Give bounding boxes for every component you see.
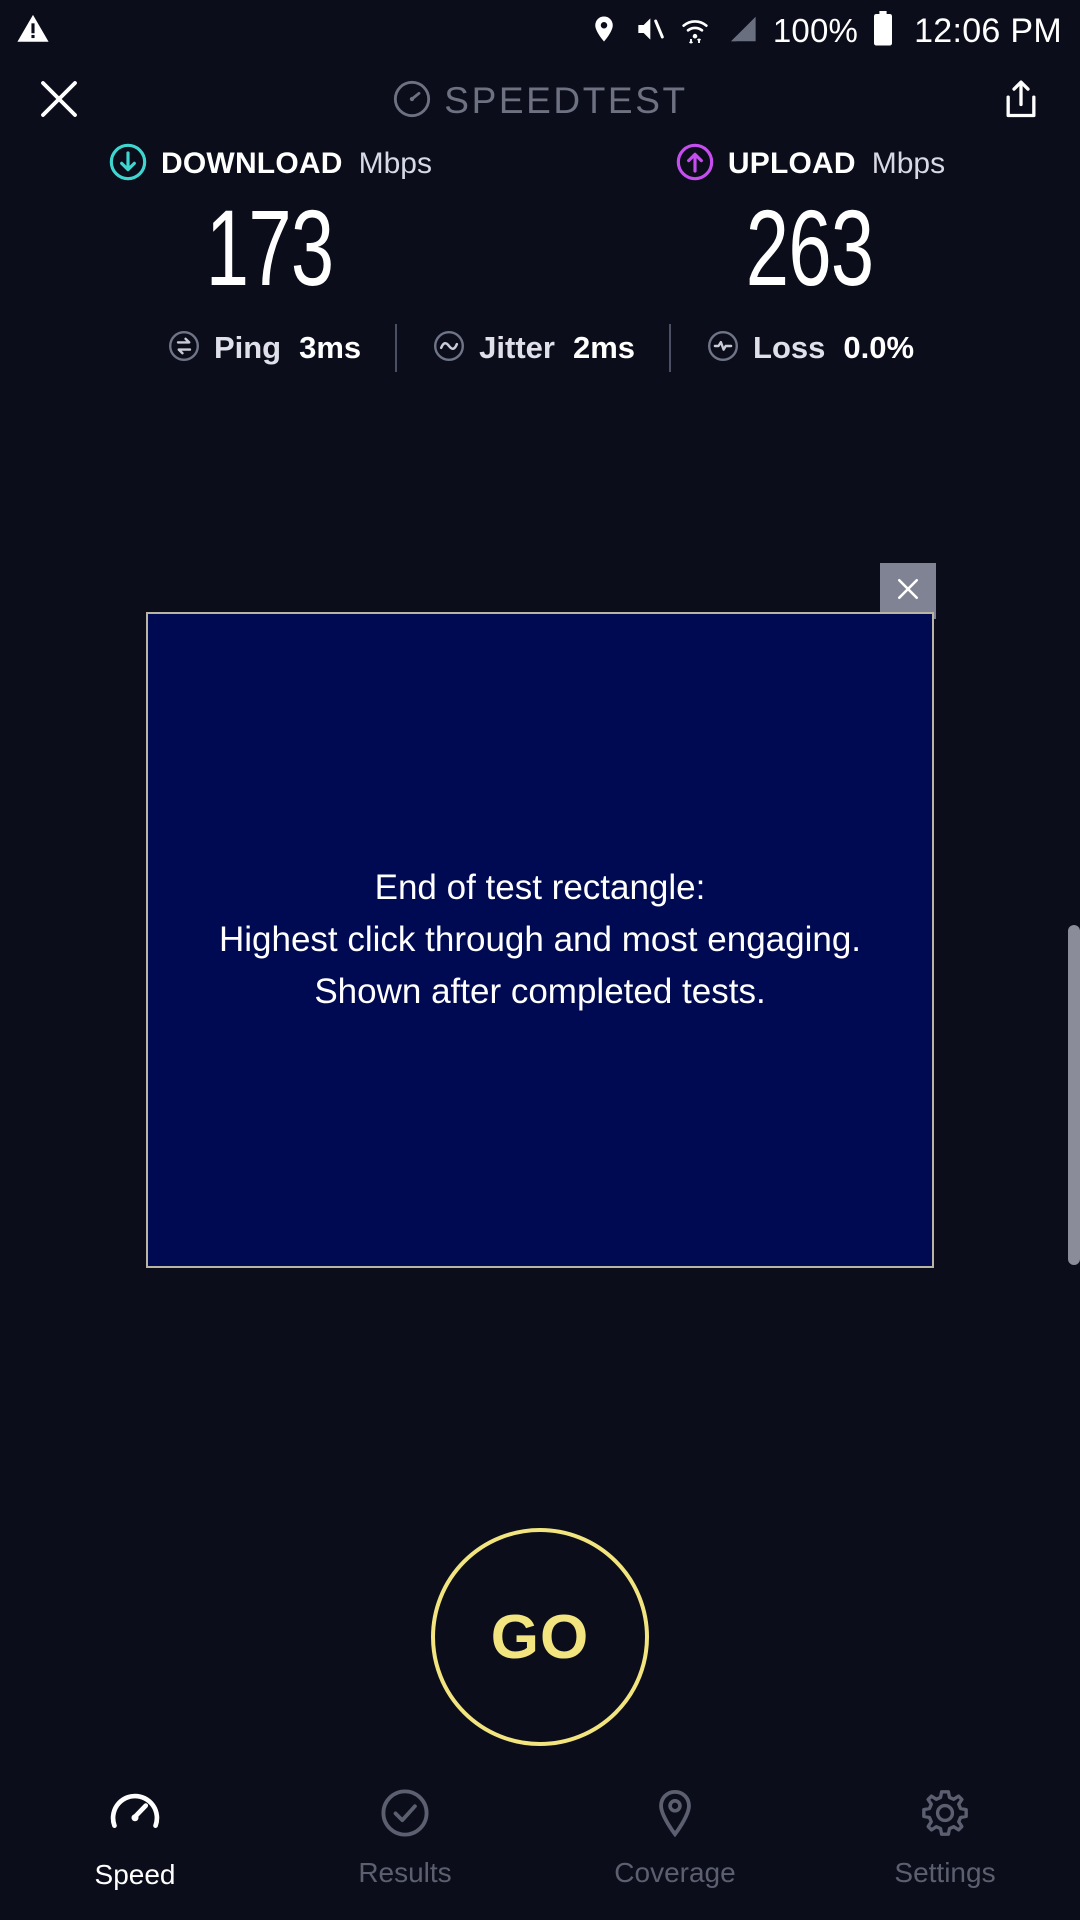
nav-item-coverage[interactable]: Coverage xyxy=(540,1786,810,1889)
loss-label: Loss xyxy=(753,330,825,366)
arrow-down-circle-icon xyxy=(108,142,148,187)
app-bar xyxy=(0,62,1080,140)
ping-jitter-loss-row: Ping 3ms Jitter 2ms Loss 0.0% xyxy=(0,324,1080,372)
download-value: 173 xyxy=(206,194,334,302)
check-circle-icon xyxy=(378,1786,432,1845)
download-metric: DOWNLOAD Mbps 173 xyxy=(0,140,540,302)
volume-mute-icon xyxy=(633,13,665,50)
nav-item-speed[interactable]: Speed xyxy=(0,1786,270,1891)
gear-icon xyxy=(918,1786,972,1845)
loss-pulse-circle-icon xyxy=(705,328,741,369)
go-button-label: GO xyxy=(491,1602,589,1673)
clock-label: 12:06 PM xyxy=(914,12,1062,51)
battery-full-icon xyxy=(872,11,894,52)
ad-scrollbar[interactable] xyxy=(1068,925,1080,1265)
ad-text: End of test rectangle: Highest click thr… xyxy=(207,862,873,1017)
go-button[interactable]: GO xyxy=(431,1528,649,1746)
loss-value: 0.0% xyxy=(843,330,914,366)
ping-label: Ping xyxy=(214,330,281,366)
share-upload-icon xyxy=(999,77,1043,126)
speedtest-app-screen: 100% 12:06 PM SPEEDTEST xyxy=(0,0,1080,1920)
download-upload-row: DOWNLOAD Mbps 173 UPLOAD Mbps 263 xyxy=(0,140,1080,302)
divider xyxy=(395,324,397,372)
upload-value: 263 xyxy=(746,194,874,302)
upload-unit: Mbps xyxy=(872,147,945,181)
close-button[interactable] xyxy=(26,68,92,134)
ad-creative[interactable]: End of test rectangle: Highest click thr… xyxy=(146,612,934,1268)
location-pin-icon xyxy=(589,14,619,49)
ad-close-x-icon xyxy=(893,574,923,609)
speedometer-icon xyxy=(107,1786,163,1847)
jitter-value: 2ms xyxy=(573,330,635,366)
status-bar: 100% 12:06 PM xyxy=(0,0,1080,62)
cellular-signal-icon xyxy=(725,14,759,49)
ping-value: 3ms xyxy=(299,330,361,366)
ping-arrows-circle-icon xyxy=(166,328,202,369)
nav-item-settings[interactable]: Settings xyxy=(810,1786,1080,1889)
jitter-label: Jitter xyxy=(479,330,555,366)
status-bar-left xyxy=(16,12,50,51)
ping-metric: Ping 3ms xyxy=(166,328,361,369)
divider xyxy=(669,324,671,372)
download-label: DOWNLOAD xyxy=(161,147,343,181)
map-pin-icon xyxy=(648,1786,702,1845)
results-panel: DOWNLOAD Mbps 173 UPLOAD Mbps 263 xyxy=(0,140,1080,372)
upload-metric: UPLOAD Mbps 263 xyxy=(540,140,1080,302)
arrow-up-circle-icon xyxy=(675,142,715,187)
nav-label-settings: Settings xyxy=(894,1857,995,1889)
upload-header: UPLOAD Mbps xyxy=(675,140,945,188)
jitter-wave-circle-icon xyxy=(431,328,467,369)
battery-percent-label: 100% xyxy=(773,12,858,50)
nav-label-speed: Speed xyxy=(95,1859,176,1891)
ad-close-button[interactable] xyxy=(880,563,936,619)
warning-triangle-icon xyxy=(16,12,50,51)
loss-metric: Loss 0.0% xyxy=(705,328,914,369)
status-bar-right: 100% 12:06 PM xyxy=(589,11,1062,52)
upload-label: UPLOAD xyxy=(728,147,856,181)
bottom-navigation: Speed Results Coverage Settings xyxy=(0,1772,1080,1920)
nav-label-coverage: Coverage xyxy=(614,1857,735,1889)
nav-item-results[interactable]: Results xyxy=(270,1786,540,1889)
wifi-icon xyxy=(679,13,711,50)
nav-label-results: Results xyxy=(358,1857,451,1889)
download-unit: Mbps xyxy=(359,147,432,181)
ad-line-1: End of test rectangle: xyxy=(219,862,861,914)
close-x-icon xyxy=(35,75,83,128)
jitter-metric: Jitter 2ms xyxy=(431,328,635,369)
ad-line-2: Highest click through and most engaging. xyxy=(219,914,861,966)
download-header: DOWNLOAD Mbps xyxy=(108,140,432,188)
ad-line-3: Shown after completed tests. xyxy=(219,966,861,1018)
share-button[interactable] xyxy=(988,68,1054,134)
